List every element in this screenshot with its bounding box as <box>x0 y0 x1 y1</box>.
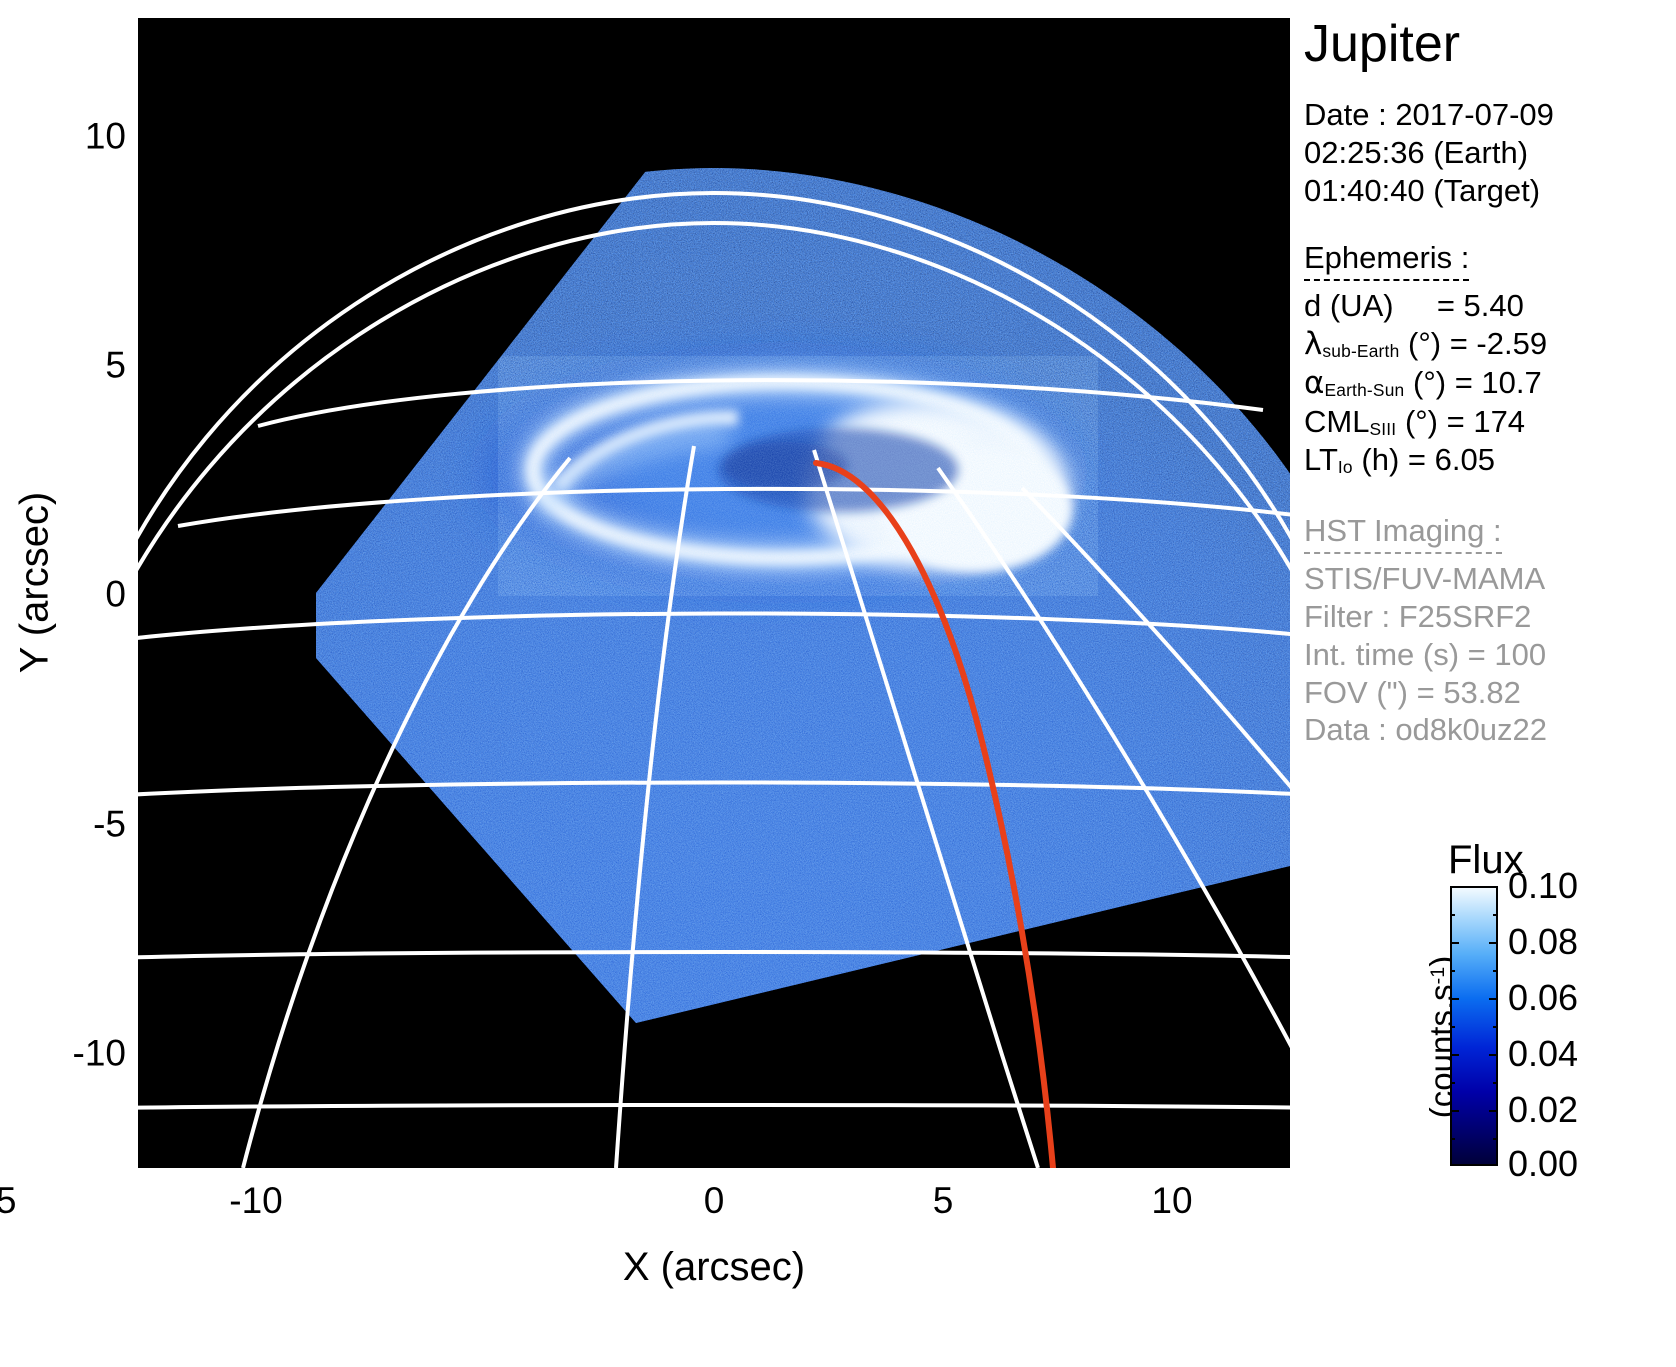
ephemeris-row-distance: d (UA) = 5.40 <box>1304 287 1676 325</box>
hst-filter: Filter : F25SRF2 <box>1304 598 1676 636</box>
cb-minor-3-left <box>1450 1026 1455 1028</box>
eph-label-lt: LT <box>1304 442 1338 477</box>
eph-value-cml: = 174 <box>1447 404 1525 439</box>
eph-unit-alpha: (°) <box>1413 365 1446 400</box>
cb-tick-008-left <box>1450 942 1459 944</box>
cb-minor-2 <box>1493 970 1498 972</box>
cb-tick-000 <box>1489 1164 1498 1166</box>
cb-tick-002-left <box>1450 1110 1459 1112</box>
cb-minor-5 <box>1493 1138 1498 1140</box>
observation-date: Date : 2017-07-09 <box>1304 96 1676 134</box>
cb-minor-3 <box>1493 1026 1498 1028</box>
eph-sub-lambda: sub-Earth <box>1322 341 1399 361</box>
cb-label-006: 0.06 <box>1508 980 1578 1016</box>
target-time: 01:40:40 (Target) <box>1304 172 1676 210</box>
hst-dataset-id: Data : od8k0uz22 <box>1304 711 1676 749</box>
hst-int-time: Int. time (s) = 100 <box>1304 636 1676 674</box>
cb-tick-006-left <box>1450 998 1459 1000</box>
y-tick-0: 0 <box>105 576 126 613</box>
eph-sub-lt: Io <box>1338 457 1353 477</box>
cb-tick-002 <box>1489 1110 1498 1112</box>
x-tick-0: 0 <box>704 1182 725 1219</box>
eph-label-lambda: λ <box>1304 326 1322 362</box>
hst-imaging-heading: HST Imaging : <box>1304 512 1502 554</box>
y-axis-title: Y (arcsec) <box>13 403 58 763</box>
cb-minor-5-left <box>1450 1138 1455 1140</box>
cb-tick-004-left <box>1450 1054 1459 1056</box>
cb-label-010: 0.10 <box>1508 868 1578 904</box>
x-tick-5: 5 <box>933 1182 954 1219</box>
ephemeris-row-cml: CMLSIII (°) = 174 <box>1304 403 1676 441</box>
cb-tick-006 <box>1489 998 1498 1000</box>
colorbar-unit-exponent: -1 <box>1427 967 1449 985</box>
cb-tick-008 <box>1489 942 1498 944</box>
y-tick-m10: -10 <box>73 1035 126 1072</box>
ephemeris-row-io-lt: LTIo (h) = 6.05 <box>1304 441 1676 479</box>
cb-tick-004 <box>1489 1054 1498 1056</box>
eph-unit-cml: (°) <box>1405 404 1438 439</box>
hst-imaging-block: HST Imaging : STIS/FUV-MAMA Filter : F25… <box>1298 512 1676 749</box>
cb-minor-1-left <box>1450 914 1455 916</box>
cb-minor-4 <box>1493 1082 1498 1084</box>
cb-label-004: 0.04 <box>1508 1036 1578 1072</box>
jupiter-image-plot <box>138 18 1290 1168</box>
y-tick-10: 10 <box>85 118 126 155</box>
y-tick-5: 5 <box>105 347 126 384</box>
hst-fov: FOV (") = 53.82 <box>1304 674 1676 712</box>
eph-unit-lambda: (°) <box>1408 326 1441 361</box>
eph-label-cml: CML <box>1304 404 1369 439</box>
colorbar: Flux (counts.s-1) 0.10 0.08 0.06 0.04 0.… <box>1298 838 1676 1178</box>
earth-time: 02:25:36 (Earth) <box>1304 134 1676 172</box>
eph-value-alpha: = 10.7 <box>1455 365 1542 400</box>
date-block: Date : 2017-07-09 02:25:36 (Earth) 01:40… <box>1298 96 1676 209</box>
x-tick-m10: -10 <box>229 1182 282 1219</box>
hst-instrument: STIS/FUV-MAMA <box>1304 560 1676 598</box>
cb-label-008: 0.08 <box>1508 924 1578 960</box>
x-tick-10: 10 <box>1151 1182 1192 1219</box>
cb-label-002: 0.02 <box>1508 1092 1578 1128</box>
cb-label-000: 0.00 <box>1508 1146 1578 1182</box>
page-title: Jupiter <box>1304 18 1676 70</box>
cb-minor-4-left <box>1450 1082 1455 1084</box>
x-axis-title: X (arcsec) <box>138 1245 1290 1290</box>
ephemeris-block: Ephemeris : d (UA) = 5.40 λsub-Earth (°)… <box>1298 239 1676 478</box>
plot-area <box>138 18 1290 1168</box>
cb-minor-1 <box>1493 914 1498 916</box>
eph-value-lt: = 6.05 <box>1408 442 1495 477</box>
ephemeris-row-sub-earth-lat: λsub-Earth (°) = -2.59 <box>1304 325 1676 364</box>
x-tick-m5: -5 <box>0 1182 16 1219</box>
eph-unit-lt: (h) <box>1361 442 1399 477</box>
eph-sub-cml: SIII <box>1369 419 1396 439</box>
ephemeris-heading: Ephemeris : <box>1304 239 1469 281</box>
ephemeris-row-phase-angle: αEarth-Sun (°) = 10.7 <box>1304 364 1676 403</box>
cb-tick-010 <box>1489 886 1498 888</box>
eph-value-d: = 5.40 <box>1437 288 1524 323</box>
eph-label-alpha: α <box>1304 365 1324 401</box>
cb-tick-000-left <box>1450 1164 1459 1166</box>
y-tick-m5: -5 <box>93 806 126 843</box>
eph-sub-alpha: Earth-Sun <box>1324 380 1404 400</box>
eph-label-d: d (UA) <box>1304 288 1394 323</box>
eph-value-lambda: = -2.59 <box>1450 326 1547 361</box>
colorbar-ticks <box>1450 886 1498 1166</box>
cb-minor-2-left <box>1450 970 1455 972</box>
cb-tick-010-left <box>1450 886 1459 888</box>
